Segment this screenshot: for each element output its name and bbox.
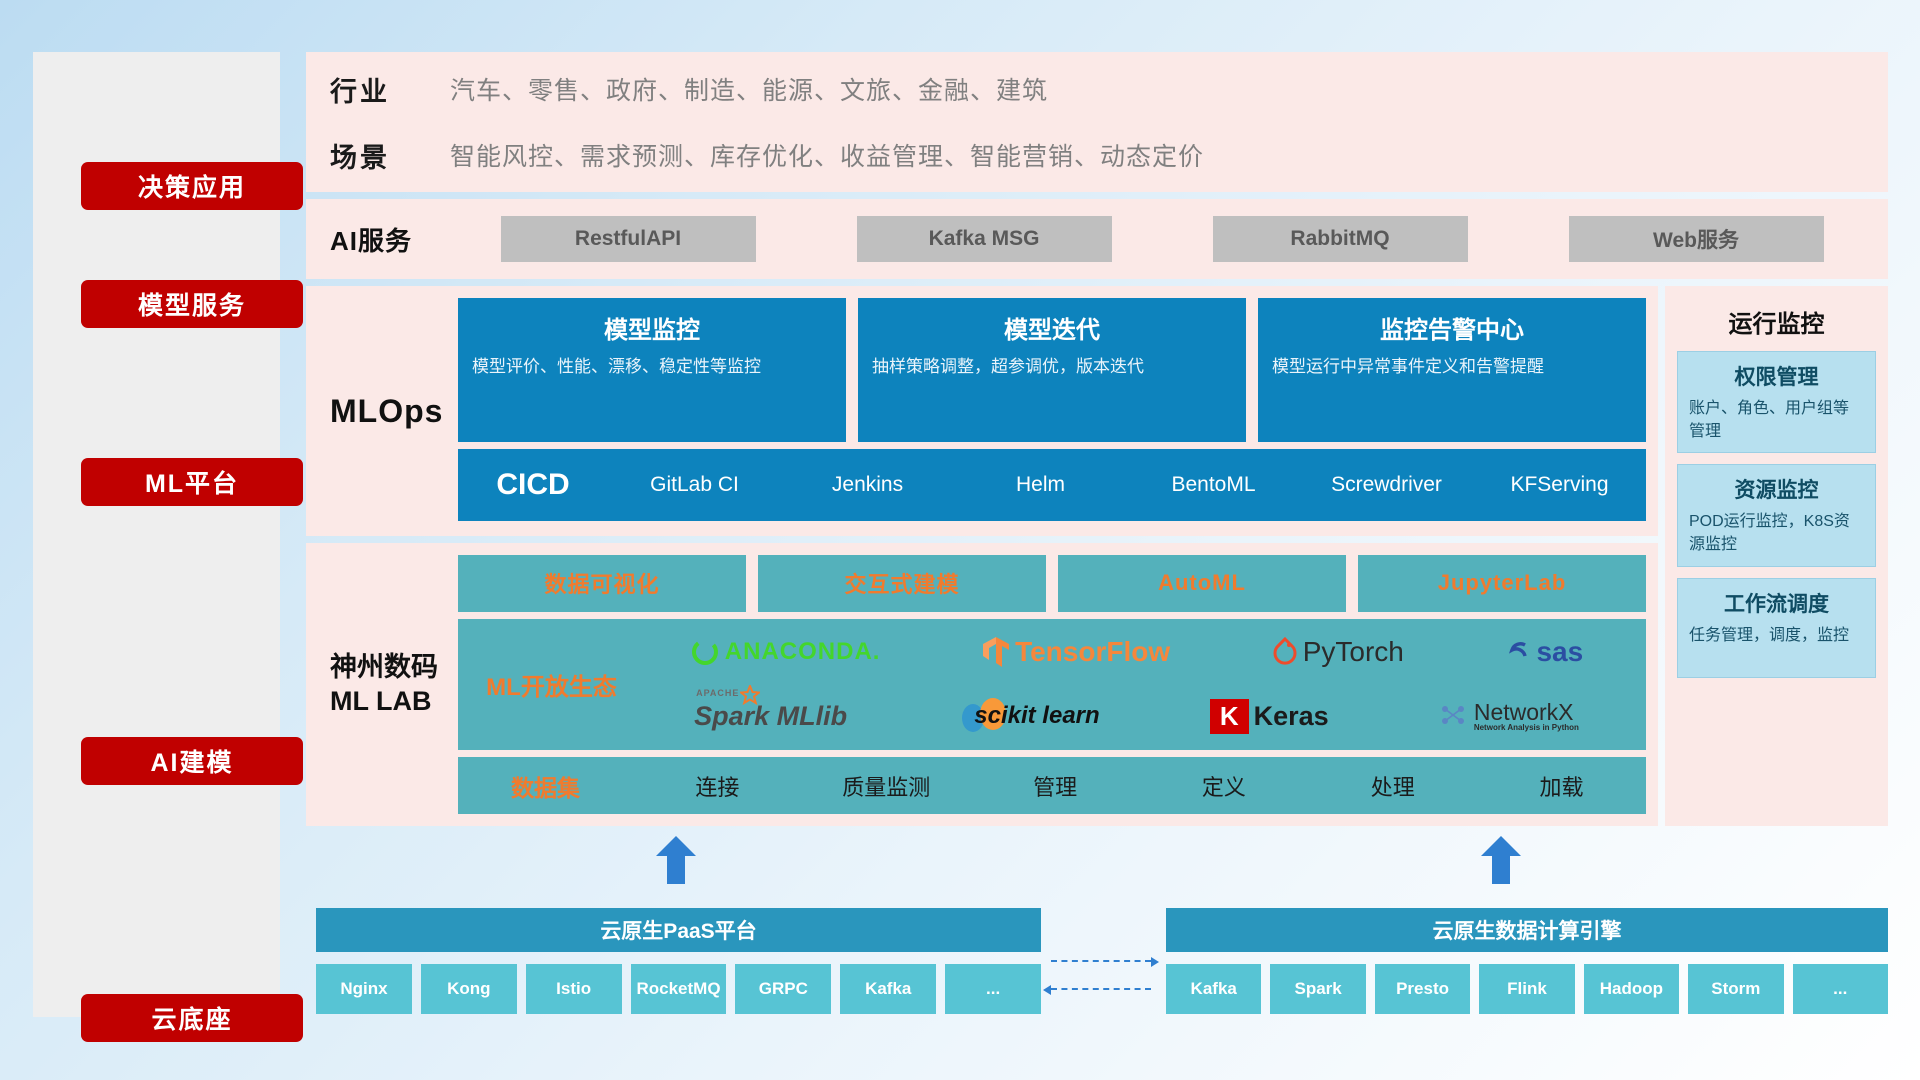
ml-tool-row: 数据可视化 交互式建模 AutoML JupyterLab xyxy=(458,555,1646,612)
arrow-up-compute-icon xyxy=(1481,836,1521,884)
card-title: 模型监控 xyxy=(472,310,832,345)
monitoring-card-resource[interactable]: 资源监控 POD运行监控，K8S资源监控 xyxy=(1677,464,1876,566)
cloud-compute-column: 云原生数据计算引擎 Kafka Spark Presto Flink Hadoo… xyxy=(1166,908,1888,1014)
cloud-chip-more[interactable]: ... xyxy=(945,964,1041,1014)
layer-label: 模型服务 xyxy=(138,286,246,322)
mlops-content: 模型监控 模型评价、性能、漂移、稳定性等监控 模型迭代 抽样策略调整，超参调优，… xyxy=(458,298,1646,524)
cloud-chip-kafka[interactable]: Kafka xyxy=(840,964,936,1014)
cloud-paas-column: 云原生PaaS平台 Nginx Kong Istio RocketMQ GRPC… xyxy=(316,908,1041,1014)
tool-chip-automl[interactable]: AutoML xyxy=(1058,555,1346,612)
tool-chip-jupyterlab[interactable]: JupyterLab xyxy=(1358,555,1646,612)
card-title: 监控告警中心 xyxy=(1272,310,1632,345)
cloud-chip-nginx[interactable]: Nginx xyxy=(316,964,412,1014)
keras-icon: K xyxy=(1210,699,1249,734)
layer-label: 决策应用 xyxy=(138,168,246,204)
architecture-diagram: 决策应用 模型服务 ML平台 AI建模 云底座 行业 汽车、零售、政府、制造、能… xyxy=(0,0,1920,1080)
ml-open-ecosystem-row: ML开放生态 ANACONDA. xyxy=(458,619,1646,751)
eco-logo-line-2: APACHE Spark MLlib xyxy=(639,685,1634,747)
card-desc: 抽样策略调整，超参调优，版本迭代 xyxy=(872,355,1232,380)
pytorch-label: PyTorch xyxy=(1303,636,1404,668)
scenario-value: 智能风控、需求预测、库存优化、收益管理、智能营销、动态定价 xyxy=(450,137,1204,173)
mlops-card-alert-center[interactable]: 监控告警中心 模型运行中异常事件定义和告警提醒 xyxy=(1258,298,1646,442)
cloud-paas-chips: Nginx Kong Istio RocketMQ GRPC Kafka ... xyxy=(316,964,1041,1014)
tensorflow-logo: TensorFlow xyxy=(982,636,1170,668)
keras-label: Keras xyxy=(1254,701,1329,732)
cloud-chip-grpc[interactable]: GRPC xyxy=(735,964,831,1014)
compute-chip-more[interactable]: ... xyxy=(1793,964,1888,1014)
compute-chip-presto[interactable]: Presto xyxy=(1375,964,1470,1014)
tool-chip-interactive-modeling[interactable]: 交互式建模 xyxy=(758,555,1046,612)
anaconda-label: ANACONDA. xyxy=(725,638,881,666)
mlops-card-monitoring[interactable]: 模型监控 模型评价、性能、漂移、稳定性等监控 xyxy=(458,298,846,442)
arrow-up-paas-icon xyxy=(656,836,696,884)
ml-lab-label: 神州数码 ML LAB xyxy=(330,555,458,814)
cloud-chip-rocketmq[interactable]: RocketMQ xyxy=(631,964,727,1014)
cicd-item-screwdriver[interactable]: Screwdriver xyxy=(1300,474,1473,496)
card-desc: POD运行监控，K8S资源监控 xyxy=(1689,511,1864,556)
cicd-item-bentoml[interactable]: BentoML xyxy=(1127,474,1300,496)
dataset-items: 连接 质量监测 管理 定义 处理 加载 xyxy=(633,770,1646,802)
compute-chip-hadoop[interactable]: Hadoop xyxy=(1584,964,1679,1014)
card-title: 权限管理 xyxy=(1689,361,1864,391)
card-desc: 任务管理，调度，监控 xyxy=(1689,625,1864,648)
layer-badge-cloud-base[interactable]: 云底座 xyxy=(81,994,303,1042)
industry-row: 行业 汽车、零售、政府、制造、能源、文旅、金融、建筑 xyxy=(330,64,1204,114)
networkx-sublabel: Network Analysis in Python xyxy=(1474,724,1579,732)
ai-service-chips: RestfulAPI Kafka MSG RabbitMQ Web服务 xyxy=(450,216,1888,262)
runtime-monitoring-panel: 运行监控 权限管理 账户、角色、用户组等管理 资源监控 POD运行监控，K8S资… xyxy=(1665,286,1888,826)
dataset-item-define[interactable]: 定义 xyxy=(1139,770,1308,802)
spark-mllib-label: Spark MLlib xyxy=(694,701,847,731)
scenario-row: 场景 智能风控、需求预测、库存优化、收益管理、智能营销、动态定价 xyxy=(330,130,1204,180)
tensorflow-label: TensorFlow xyxy=(1015,636,1170,668)
cicd-item-helm[interactable]: Helm xyxy=(954,474,1127,496)
pytorch-logo: PyTorch xyxy=(1272,636,1404,668)
layer-badge-ai-modeling[interactable]: AI建模 xyxy=(81,737,303,785)
layer-badge-decision[interactable]: 决策应用 xyxy=(81,162,303,210)
layer-badge-model-service[interactable]: 模型服务 xyxy=(81,280,303,328)
layer-label: 云底座 xyxy=(151,1000,232,1036)
cicd-title: CICD xyxy=(458,468,608,502)
eco-logo-line-1: ANACONDA. TensorFlow xyxy=(639,621,1634,683)
cloud-base-section: 云原生PaaS平台 Nginx Kong Istio RocketMQ GRPC… xyxy=(306,880,1888,1030)
card-desc: 模型运行中异常事件定义和告警提醒 xyxy=(1272,355,1632,380)
mlops-label: MLOps xyxy=(330,298,458,524)
compute-chip-spark[interactable]: Spark xyxy=(1270,964,1365,1014)
card-desc: 模型评价、性能、漂移、稳定性等监控 xyxy=(472,355,832,380)
industry-value: 汽车、零售、政府、制造、能源、文旅、金融、建筑 xyxy=(450,71,1048,107)
main-stack: 行业 汽车、零售、政府、制造、能源、文旅、金融、建筑 场景 智能风控、需求预测、… xyxy=(306,52,1888,826)
eco-title: ML开放生态 xyxy=(464,667,639,702)
keras-logo: K Keras xyxy=(1210,699,1329,734)
pytorch-icon xyxy=(1272,637,1298,667)
cicd-item-gitlab[interactable]: GitLab CI xyxy=(608,474,781,496)
card-title: 模型迭代 xyxy=(872,310,1232,345)
cicd-items: GitLab CI Jenkins Helm BentoML Screwdriv… xyxy=(608,474,1646,496)
layer-rail: 决策应用 模型服务 ML平台 AI建模 云底座 xyxy=(33,52,280,1017)
spark-mllib-logo: APACHE Spark MLlib xyxy=(694,701,847,732)
ai-chip-restful[interactable]: RestfulAPI xyxy=(501,216,756,262)
spark-star-icon xyxy=(740,685,760,705)
platform-and-monitoring: MLOps 模型监控 模型评价、性能、漂移、稳定性等监控 模型迭代 抽样策略调整… xyxy=(306,286,1888,826)
layer-badge-ml-platform[interactable]: ML平台 xyxy=(81,458,303,506)
ml-lab-line2: ML LAB xyxy=(330,685,458,719)
mlops-cards: 模型监控 模型评价、性能、漂移、稳定性等监控 模型迭代 抽样策略调整，超参调优，… xyxy=(458,298,1646,442)
cloud-chip-istio[interactable]: Istio xyxy=(526,964,622,1014)
mlops-card-iteration[interactable]: 模型迭代 抽样策略调整，超参调优，版本迭代 xyxy=(858,298,1246,442)
ml-lab-line1: 神州数码 xyxy=(330,651,458,685)
dashed-arrow-left-icon xyxy=(1051,988,1151,990)
cloud-chip-kong[interactable]: Kong xyxy=(421,964,517,1014)
decision-application-band: 行业 汽车、零售、政府、制造、能源、文旅、金融、建筑 场景 智能风控、需求预测、… xyxy=(306,52,1888,192)
card-desc: 账户、角色、用户组等管理 xyxy=(1689,398,1864,443)
compute-chip-kafka[interactable]: Kafka xyxy=(1166,964,1261,1014)
dataset-item-manage[interactable]: 管理 xyxy=(971,770,1140,802)
card-title: 资源监控 xyxy=(1689,474,1864,504)
anaconda-icon xyxy=(690,637,720,667)
ai-service-label: AI服务 xyxy=(330,221,450,258)
ai-chip-rabbitmq[interactable]: RabbitMQ xyxy=(1213,216,1468,262)
dataset-item-process[interactable]: 处理 xyxy=(1308,770,1477,802)
dataset-item-quality[interactable]: 质量监测 xyxy=(802,770,971,802)
cloud-paas-title: 云原生PaaS平台 xyxy=(316,908,1041,952)
layer-label: ML平台 xyxy=(145,464,239,500)
anaconda-logo: ANACONDA. xyxy=(690,637,881,667)
compute-chip-storm[interactable]: Storm xyxy=(1688,964,1783,1014)
cicd-item-jenkins[interactable]: Jenkins xyxy=(781,474,954,496)
cicd-bar: CICD GitLab CI Jenkins Helm BentoML Scre… xyxy=(458,449,1646,521)
scikit-learn-logo: scikit learn xyxy=(957,696,1099,736)
tensorflow-icon xyxy=(982,636,1010,668)
card-title: 工作流调度 xyxy=(1689,588,1864,618)
networkx-icon xyxy=(1439,703,1469,729)
layer-label: AI建模 xyxy=(150,743,233,779)
eco-logos: ANACONDA. TensorFlow xyxy=(639,621,1640,747)
monitoring-title: 运行监控 xyxy=(1677,296,1876,351)
cloud-compute-title: 云原生数据计算引擎 xyxy=(1166,908,1888,952)
dataset-item-connect[interactable]: 连接 xyxy=(633,770,802,802)
sas-logo: sas xyxy=(1505,636,1583,668)
sas-label: sas xyxy=(1536,636,1583,668)
cloud-link-arrows xyxy=(1051,958,1161,998)
ai-modeling-band: 神州数码 ML LAB 数据可视化 交互式建模 AutoML JupyterLa… xyxy=(306,543,1658,826)
scenario-label: 场景 xyxy=(330,136,450,175)
ml-lab-content: 数据可视化 交互式建模 AutoML JupyterLab ML开放生态 xyxy=(458,555,1646,814)
industry-label: 行业 xyxy=(330,70,450,109)
spark-apache-label: APACHE xyxy=(696,688,739,698)
dataset-title: 数据集 xyxy=(458,769,633,803)
cicd-item-kfserving[interactable]: KFServing xyxy=(1473,474,1646,496)
monitoring-card-permission[interactable]: 权限管理 账户、角色、用户组等管理 xyxy=(1677,351,1876,453)
ai-chip-kafka[interactable]: Kafka MSG xyxy=(857,216,1112,262)
compute-chip-flink[interactable]: Flink xyxy=(1479,964,1574,1014)
monitoring-card-workflow[interactable]: 工作流调度 任务管理，调度，监控 xyxy=(1677,578,1876,678)
platform-column: MLOps 模型监控 模型评价、性能、漂移、稳定性等监控 模型迭代 抽样策略调整… xyxy=(306,286,1658,826)
dataset-row: 数据集 连接 质量监测 管理 定义 处理 加载 xyxy=(458,757,1646,814)
mlops-band: MLOps 模型监控 模型评价、性能、漂移、稳定性等监控 模型迭代 抽样策略调整… xyxy=(306,286,1658,536)
ai-service-band: AI服务 RestfulAPI Kafka MSG RabbitMQ Web服务 xyxy=(306,199,1888,279)
networkx-logo: NetworkX Network Analysis in Python xyxy=(1439,701,1579,732)
sas-icon xyxy=(1505,639,1531,665)
networkx-label: NetworkX xyxy=(1474,701,1579,724)
dataset-item-load[interactable]: 加载 xyxy=(1477,770,1646,802)
dashed-arrow-right-icon xyxy=(1051,960,1151,962)
tool-chip-data-visualization[interactable]: 数据可视化 xyxy=(458,555,746,612)
cloud-compute-chips: Kafka Spark Presto Flink Hadoop Storm ..… xyxy=(1166,964,1888,1014)
scikit-learn-label: scikit learn xyxy=(974,702,1099,730)
ai-chip-web[interactable]: Web服务 xyxy=(1569,216,1824,262)
